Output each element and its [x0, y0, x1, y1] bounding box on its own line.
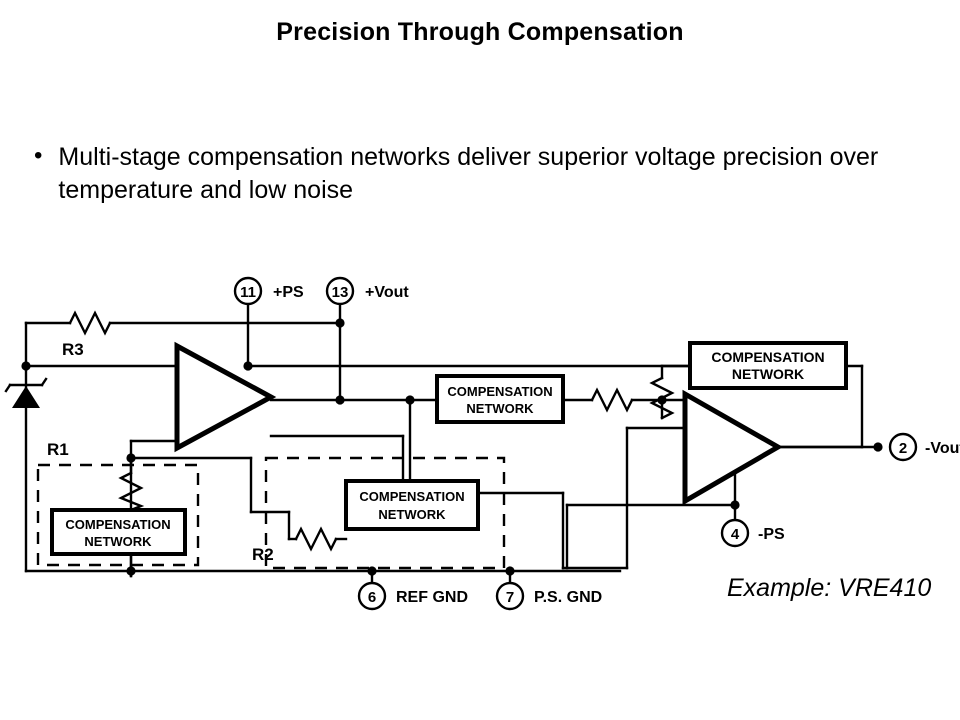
bullet-marker-icon: •: [30, 141, 42, 171]
circuit-diagram: R3 R1: [0, 258, 960, 628]
compensation-network-r1: COMPENSATION NETWORK: [52, 510, 185, 554]
pin-7-label: P.S. GND: [534, 589, 602, 606]
pin-6-number: 6: [368, 589, 376, 606]
opamp-right: [685, 394, 778, 501]
pin-2-number: 2: [899, 440, 907, 457]
cn-line2: NETWORK: [732, 366, 804, 382]
slide-canvas: Precision Through Compensation • Multi-s…: [0, 0, 960, 720]
bullet-text: Multi-stage compensation networks delive…: [58, 141, 888, 207]
schematic-svg: R3 R1: [0, 258, 960, 628]
pin-11-label: +PS: [273, 284, 304, 301]
cn-line1: COMPENSATION: [65, 517, 170, 532]
compensation-network-top-right: COMPENSATION NETWORK: [690, 343, 846, 388]
pin-2[interactable]: 2 -Vout: [890, 434, 960, 460]
pin-4-label: -PS: [758, 526, 785, 543]
resistor-r2: [296, 529, 336, 549]
bullet-list: • Multi-stage compensation networks deli…: [30, 141, 910, 207]
cn-line1: COMPENSATION: [711, 349, 824, 365]
pin-4-number: 4: [731, 526, 740, 543]
cn-line1: COMPENSATION: [359, 489, 464, 504]
pin-13-label: +Vout: [365, 284, 409, 301]
pin-13[interactable]: 13 +Vout: [327, 278, 409, 304]
resistor-r2-label: R2: [252, 545, 274, 564]
resistor-r1-label: R1: [47, 440, 69, 459]
resistor-center-series: [592, 390, 632, 410]
cn-line2: NETWORK: [378, 507, 446, 522]
cn-line2: NETWORK: [84, 534, 152, 549]
pin-2-label: -Vout: [925, 440, 960, 457]
opamp-left: [177, 346, 271, 448]
compensation-network-r2: COMPENSATION NETWORK: [346, 481, 478, 529]
page-title: Precision Through Compensation: [0, 18, 960, 47]
resistor-r3-label: R3: [62, 340, 84, 359]
pin-13-number: 13: [332, 284, 349, 301]
cn-line2: NETWORK: [466, 401, 534, 416]
pin-6-label: REF GND: [396, 589, 468, 606]
compensation-network-center: COMPENSATION NETWORK: [437, 376, 563, 422]
list-item: • Multi-stage compensation networks deli…: [30, 141, 910, 207]
pin-7-number: 7: [506, 589, 514, 606]
cn-line1: COMPENSATION: [447, 384, 552, 399]
pin-11[interactable]: 11 +PS: [235, 278, 304, 304]
pin-4[interactable]: 4 -PS: [722, 520, 785, 546]
pin-11-number: 11: [240, 284, 256, 301]
pin-7[interactable]: 7 P.S. GND: [497, 583, 602, 609]
pin-6[interactable]: 6 REF GND: [359, 583, 468, 609]
resistor-r3: [70, 313, 110, 333]
